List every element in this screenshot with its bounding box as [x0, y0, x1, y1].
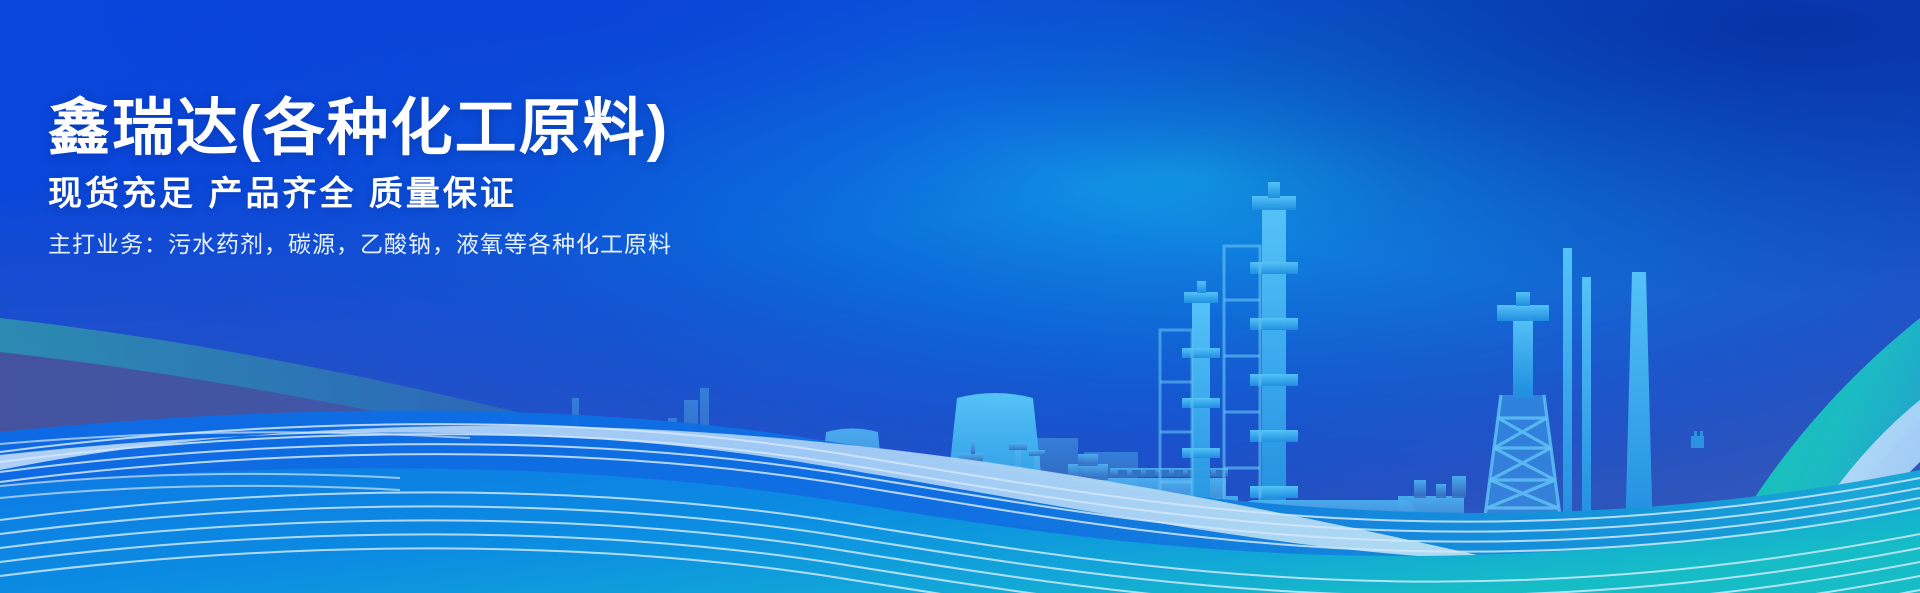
promo-banner: 鑫瑞达(各种化工原料) 现货充足 产品齐全 质量保证 主打业务：污水药剂，碳源，…: [0, 0, 1920, 593]
page-tagline: 主打业务：污水药剂，碳源，乙酸钠，液氧等各种化工原料: [48, 231, 672, 259]
page-subtitle: 现货充足 产品齐全 质量保证: [48, 176, 672, 213]
page-title: 鑫瑞达(各种化工原料): [48, 96, 672, 162]
wave-ribbons-icon: [0, 0, 1920, 593]
headline-group: 鑫瑞达(各种化工原料) 现货充足 产品齐全 质量保证 主打业务：污水药剂，碳源，…: [48, 96, 672, 259]
